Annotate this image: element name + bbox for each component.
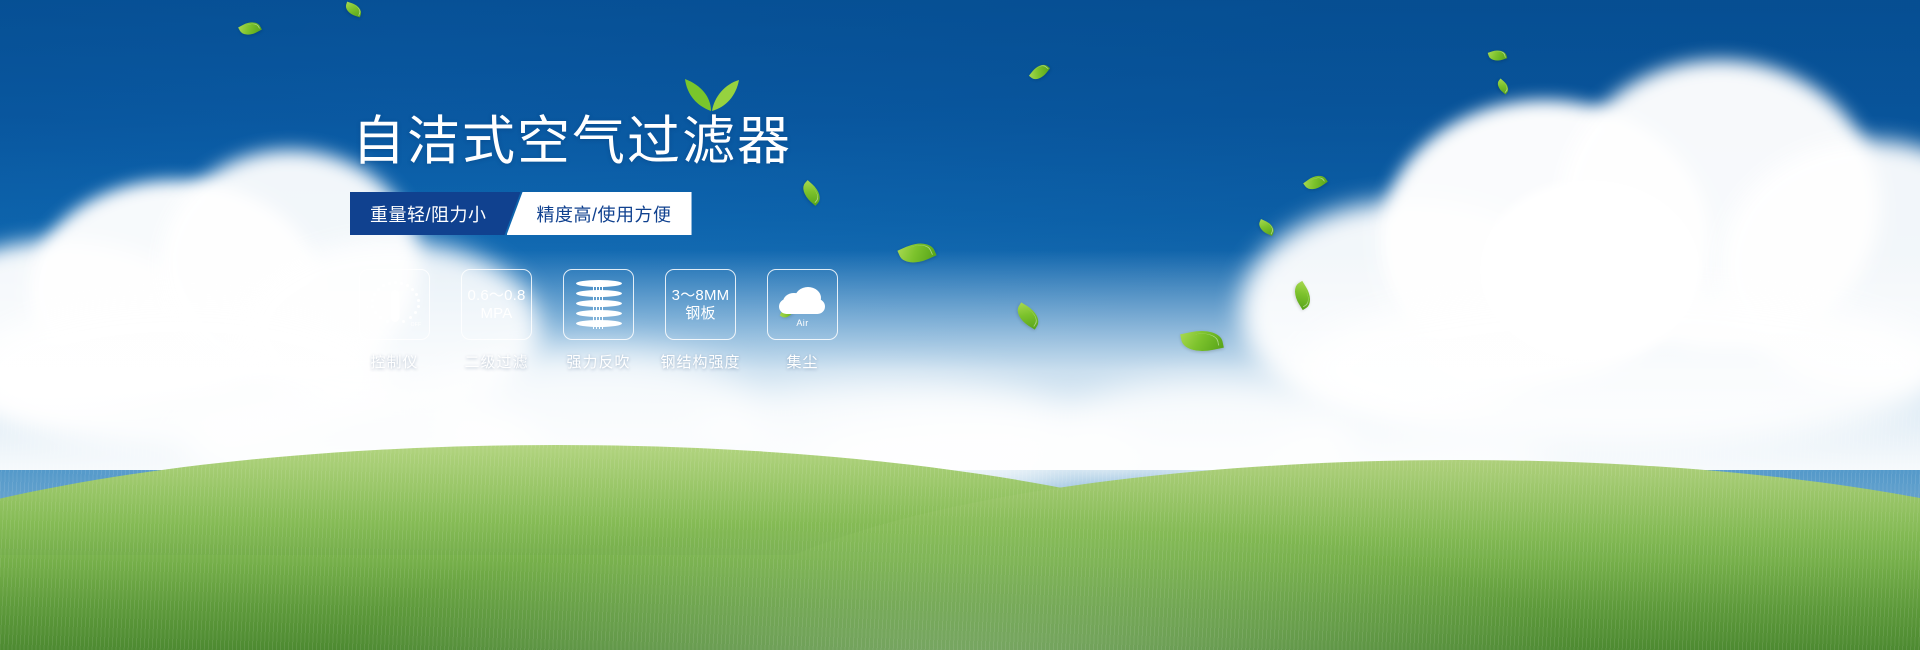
- feature-icon-text: 3～8MM: [672, 287, 730, 305]
- feature-list: NO OFF 控制仪 0.6～0.8 MPA 二级过滤: [359, 269, 838, 372]
- feature-label: 强力反吹: [566, 351, 630, 372]
- feature-label: 控制仪: [370, 351, 418, 372]
- banner-content: 自洁式空气过滤器 重量轻/阻力小 精度高/使用方便: [0, 0, 1920, 650]
- tab-highprecision-easyuse[interactable]: 精度高/使用方便: [507, 192, 692, 235]
- feature-icon-subtext: MPA: [467, 305, 525, 323]
- air-label: Air: [777, 318, 829, 328]
- feature-item-secondary-filtration[interactable]: 0.6～0.8 MPA 二级过滤: [461, 269, 532, 372]
- feature-item-dust-collection[interactable]: Air 集尘: [767, 269, 838, 372]
- feature-icon-text: 0.6～0.8: [467, 287, 525, 305]
- feature-tabs[interactable]: 重量轻/阻力小 精度高/使用方便: [350, 192, 692, 235]
- feature-label: 钢结构强度: [661, 351, 741, 372]
- page-title: 自洁式空气过滤器: [352, 113, 792, 170]
- feature-item-controller[interactable]: NO OFF 控制仪: [359, 269, 430, 372]
- feature-icon-box: 0.6～0.8 MPA: [461, 269, 532, 340]
- feature-icon-subtext: 钢板: [672, 305, 730, 323]
- gauge-icon: NO OFF: [369, 281, 421, 329]
- feature-icon-box: Air: [767, 269, 838, 340]
- air-cloud-icon: Air: [777, 285, 829, 325]
- blowback-icon: [576, 279, 622, 331]
- tab-lightweight-lowresistance[interactable]: 重量轻/阻力小: [350, 192, 521, 235]
- feature-label: 二级过滤: [464, 351, 528, 372]
- feature-item-strong-blowback[interactable]: 强力反吹: [563, 269, 634, 372]
- feature-icon-box: 3～8MM 钢板: [665, 269, 736, 340]
- banner-title-row: 自洁式空气过滤器: [352, 113, 792, 170]
- title-leaf-icon: [681, 77, 741, 111]
- feature-item-steel-strength[interactable]: 3～8MM 钢板 钢结构强度: [665, 269, 736, 372]
- gauge-on-label: NO: [367, 306, 375, 312]
- product-banner: 自洁式空气过滤器 重量轻/阻力小 精度高/使用方便: [0, 0, 1920, 650]
- feature-icon-box: [563, 269, 634, 340]
- steel-text-icon: 3～8MM 钢板: [672, 287, 730, 322]
- gauge-off-label: OFF: [411, 322, 422, 328]
- pressure-text-icon: 0.6～0.8 MPA: [467, 287, 525, 322]
- feature-icon-box: NO OFF: [359, 269, 430, 340]
- feature-label: 集尘: [786, 351, 818, 372]
